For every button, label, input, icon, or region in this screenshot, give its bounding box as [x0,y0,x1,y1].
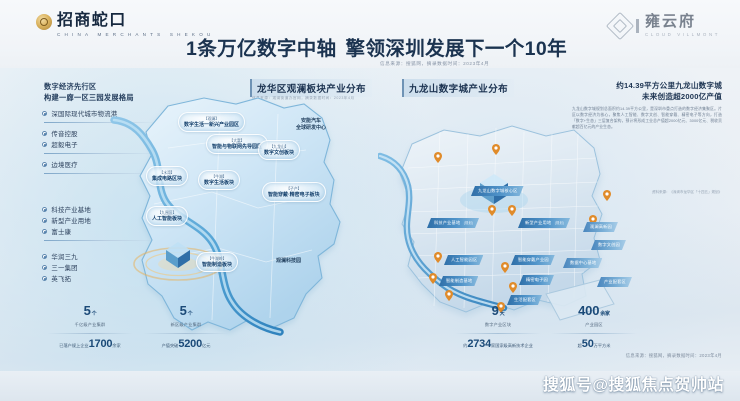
map-bubble-tag: 【子产】 [286,187,301,191]
map-pin-icon [434,152,442,163]
stat-footnote: 超50万平方米 [548,338,640,350]
divider [143,333,229,334]
map-bubble-tag: 【牛湖岭】 [208,257,227,261]
map-bubble-name: 智能制造板块 [202,262,232,268]
stat-caption: 数字产业区块 [452,322,544,328]
list-item-label: 新型产业用地 [51,216,91,225]
map-bubble[interactable]: 【牛湖】 数字生活板块 [198,170,240,190]
map-pin-icon [509,282,517,293]
map-bubble-name: 智能穿戴·精密电子板块 [268,192,320,198]
brand-logo-right: 雍云府 CLOUD VILLMONT [610,14,720,37]
stat-card: 400余家 产业园区 超50万平方米 [548,304,640,350]
right-panel-body: 九龙山数字城规划总面积约14.39平方公里，是深圳市重点打造的数字经济集聚区。片… [572,106,722,130]
map-chip-label: 产业配套区 [604,279,626,284]
map-pin-icon [492,144,500,155]
map-chip-label: 九龙山数字城核心区 [478,188,518,193]
divider [455,333,541,334]
list-item-label: 超毅电子 [51,140,77,149]
source-note: 信息来源：搜狐网，摘录数据时间：2023年4月 [626,353,722,359]
map-bubble-tag: 【九围区】 [158,211,177,215]
bullet-icon [42,207,47,212]
map-chip[interactable]: 产业配套区 [597,277,632,287]
bullet-icon [42,111,47,116]
map-bubble-name: 人工智能板块 [152,216,182,222]
list-item-label: 华润三九 [51,252,77,261]
map-chip-label: 数字文创园 [598,242,620,247]
map-bubble-tag: 【水湾】 [159,171,174,175]
stat-unit: 余家 [600,311,610,317]
bullet-icon [42,265,47,270]
map-bubble-name: 集成电路区块 [152,176,182,182]
stat-unit: 个 [92,311,97,317]
map-chip[interactable]: 精密电子园 [519,275,554,285]
list-item-label: 富士康 [51,227,71,236]
map-pin-icon [501,262,509,273]
map-bubble[interactable]: 【九围区】 人工智能板块 [146,206,188,226]
map-chip[interactable]: 观澜高新园 [583,222,618,232]
villmont-diamond-icon [606,11,634,39]
list-item-label: 边境医疗 [51,160,77,169]
stat-caption: 产业园区 [548,322,640,328]
bullet-icon [42,218,47,223]
map-bubble-name: 数字文创板块 [264,150,294,156]
map-chip[interactable]: 新型产业用地 (规划) [518,218,570,228]
page-title-part1: 1条万亿数字中轴 [186,38,337,60]
map-chip-label: 新型产业用地 [525,220,551,225]
map-bubble[interactable]: 【观澜】 数字生活一新兴产业园区 [178,112,245,132]
map-chip-label: 人工智能园区 [451,257,477,262]
brand-left-name: 招商蛇口 [57,12,215,29]
list-item-label: 英飞拓 [51,274,71,283]
map-pin-icon [508,205,516,216]
merchants-logo-icon [36,14,52,30]
left-intro-line1: 数字经济先行区 [44,82,134,93]
stat-card: 5个 新区级产业集群 产值突破5200亿元 [140,304,232,350]
map-chip[interactable]: 人工智能园区 [444,255,483,265]
bullet-icon [42,131,47,136]
stat-footnote: 产值突破5200亿元 [140,338,232,350]
list-item-label: 科技产业基地 [51,205,91,214]
watermark: 搜狐号@搜狐焦点贺帅站 [543,371,724,395]
divider [551,333,637,334]
poster-canvas: 招商蛇口 CHINA MERCHANTS SHEKOU 雍云府 CLOUD VI… [0,0,740,401]
brand-right-name: 雍云府 [645,14,720,29]
page-title-part2: 擎领深圳发展下一个10年 [346,38,568,60]
bullet-icon [42,276,47,281]
map-pin-icon [429,273,437,284]
map-pin-icon [434,252,442,263]
stat-card: 9大 数字产业区块 约2734家国家级高新技术企业 [452,304,544,350]
map-bubble-name: 数字生活板块 [204,180,234,186]
divider [47,333,133,334]
map-chip-label: 精密电子园 [526,277,548,282]
map-chip-label: 观澜高新园 [590,224,612,229]
map-bubble-name: 数字生活一新兴产业园区 [184,122,239,128]
bullet-icon [42,142,47,147]
bullet-icon [42,229,47,234]
stat-unit: 大 [500,311,505,317]
map-chip[interactable]: 智能制造基地 [439,276,478,286]
stat-value: 5个 [44,304,136,321]
right-panel-heading: 约14.39平方公里九龙山数字城 未来创造超2000亿产值 [570,80,722,102]
map-chip[interactable]: 科技产业基地 (规划) [427,218,479,228]
map-chip-label: 智能制造基地 [446,278,472,283]
map-bubble-tag: 【大富】 [229,139,244,143]
section-header-jiulongshan: 九龙山数字城产业分布 [402,79,514,97]
stat-unit: 个 [188,311,193,317]
stat-footnote: 约2734家国家级高新技术企业 [452,338,544,350]
stat-card: 5个 千亿级产业集群 已落户规上企业1700余家 [44,304,136,350]
map-pin-icon [488,205,496,216]
map-bubble-tag: 【观澜】 [204,117,219,121]
map-chip[interactable]: 智能穿戴产业园 [511,255,555,265]
list-item-label: 传音控股 [51,129,77,138]
map-bubble-tag: 【九龙山】 [270,145,289,149]
map-bubble-name: 智能与物联网先导园区 [212,144,262,150]
map-bubble[interactable]: 【水湾】 集成电路区块 [146,166,188,186]
right-panel-note: 资料来源：《深圳市龙华区「十四五」规划》 [572,190,722,195]
map-chip-label: 智能穿戴产业园 [518,257,549,262]
page-title-note: 信息来源：搜狐网，摘录数据时间：2023年4月 [380,61,489,67]
stat-value: 5个 [140,304,232,321]
divider-bar-icon [636,19,639,33]
stat-value: 9大 [452,304,544,321]
map-bubble[interactable]: 【牛湖岭】 智能制造板块 [196,252,238,272]
map-bubble-tag: 【牛湖】 [211,175,226,179]
bullet-icon [42,254,47,259]
stat-caption: 新区级产业集群 [140,322,232,328]
map-chip-label: 科技产业基地 [434,220,460,225]
map-chip[interactable]: 九龙山数字城核心区 [471,186,524,196]
stat-value: 400余家 [548,304,640,321]
map-plain-label: 观澜科技园 [276,258,301,265]
map-chip-sub: (规划) [555,221,564,225]
list-item-label: 三一集团 [51,263,77,272]
stats-row: 5个 千亿级产业集群 已落户规上企业1700余家 5个 新区级产业集群 产值突破… [0,300,740,358]
map-chip[interactable]: 数据中心基地 [563,258,602,268]
page-title: 1条万亿数字中轴擎领深圳发展下一个10年 [186,32,567,61]
right-head-line2: 未来创造超2000亿产值 [570,91,722,102]
brand-right-en: CLOUD VILLMONT [645,32,720,37]
bullet-icon [42,162,47,167]
map-chip-sub: (规划) [464,221,473,225]
map-chip[interactable]: 数字文创园 [591,240,626,250]
stat-footnote: 已落户规上企业1700余家 [44,338,136,350]
map-bubble[interactable]: 【九龙山】 数字文创板块 [258,140,300,160]
right-head-line1: 约14.39平方公里九龙山数字城 [570,80,722,91]
map-chip-label: 数据中心基地 [570,260,596,265]
map-plain-label: 安能汽车全球研发中心 [296,118,326,132]
stat-caption: 千亿级产业集群 [44,322,136,328]
map-bubble[interactable]: 【子产】 智能穿戴·精密电子板块 [262,182,326,202]
